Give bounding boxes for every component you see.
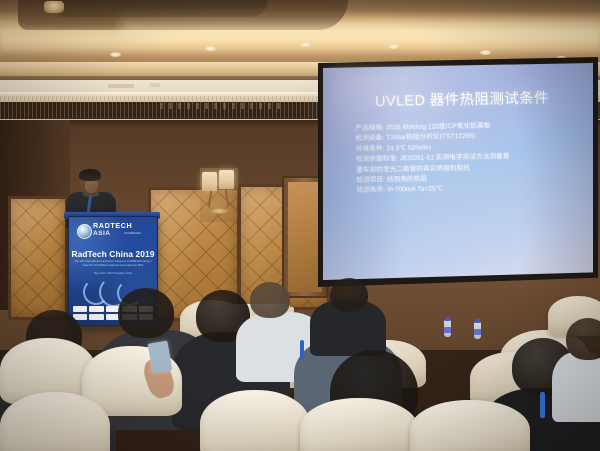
- attendee-head: [250, 282, 290, 318]
- podium-event-subtitle: The 15th International Conference & Expo…: [74, 260, 152, 267]
- sconce-shade-right: [219, 170, 234, 189]
- door-panel: [288, 182, 322, 292]
- attendee-torso: [552, 352, 600, 422]
- sconce-stem-left: [208, 191, 212, 207]
- sconce-base: [210, 208, 228, 214]
- ceiling-vent-small: [150, 83, 160, 87]
- speaker-hair: [79, 169, 101, 181]
- audience-chair: [300, 398, 418, 451]
- ceiling-downlight: [300, 42, 311, 47]
- wall-diamond-panel: [8, 196, 68, 320]
- sconce-stem-right: [225, 189, 230, 207]
- podium-event-date: May 13-15, 2019 Shanghai, China: [74, 272, 152, 275]
- audience-chair: [0, 392, 110, 451]
- attendee-head: [330, 278, 368, 312]
- ceiling-vent: [108, 84, 134, 88]
- attendee-lanyard: [540, 392, 545, 418]
- radtech-globe-icon: [77, 224, 92, 239]
- podium-logo-name: RADTECH: [93, 222, 132, 230]
- water-bottle: [474, 322, 481, 339]
- ceiling-downlight: [480, 50, 491, 55]
- podium-event-title: RadTech China 2019: [69, 249, 157, 259]
- slide-body: 产品规格: 3535 Molding 120度ICP氧化铝基板检测设备: T3S…: [355, 120, 571, 197]
- attendee-head: [118, 288, 174, 338]
- ceiling-downlight: [110, 52, 121, 57]
- cove-lighting-glow-secondary: [120, 14, 600, 36]
- podium-logo-region: ASIA: [93, 230, 110, 237]
- audience-chair: [410, 400, 530, 451]
- water-bottle: [444, 320, 451, 337]
- conference-room-photo: UVLED 器件热阻测试条件 产品规格: 3535 Molding 120度IC…: [0, 0, 600, 451]
- soffit-detail-strip: [160, 103, 280, 109]
- slide-title: UVLED 器件热阻测试条件: [375, 86, 580, 111]
- attendee-head: [566, 318, 600, 360]
- attendee-lanyard: [300, 340, 304, 360]
- podium-logo-tagline: UV/EB/LED: [124, 231, 141, 235]
- pendant-light: [44, 1, 64, 13]
- ceiling-downlight: [388, 44, 399, 49]
- audience-chair: [200, 390, 310, 451]
- ceiling-downlight: [205, 46, 216, 51]
- sconce-shade-left: [202, 172, 217, 191]
- wall-sconce: [200, 168, 238, 222]
